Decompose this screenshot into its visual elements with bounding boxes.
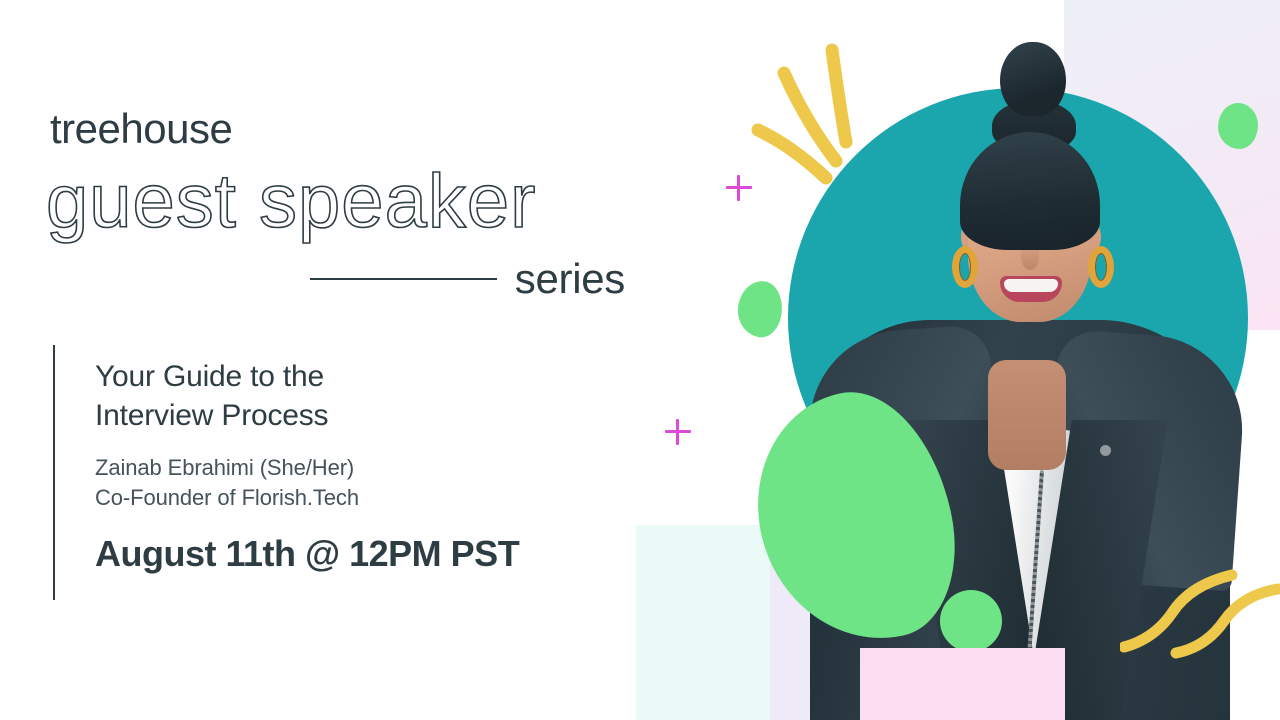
hair — [960, 132, 1100, 250]
yellow-squiggle-icon — [1120, 555, 1280, 665]
series-label: series — [515, 258, 625, 300]
green-blob-shape-top-right — [1218, 103, 1258, 149]
speaker-role: Co-Founder of Florish.Tech — [95, 483, 519, 513]
event-datetime: August 11th @ 12PM PST — [95, 534, 519, 574]
magenta-plus-icon-top — [726, 175, 752, 201]
speaker-name: Zainab Ebrahimi (She/Her) — [95, 453, 519, 483]
series-divider-rule — [310, 278, 497, 280]
event-detail-block: Your Guide to the Interview Process Zain… — [53, 345, 519, 600]
teeth — [1004, 279, 1058, 292]
leopard-hoop-earring-left — [952, 246, 978, 288]
jacket-stud — [1100, 445, 1111, 456]
green-blob-shape-small — [734, 278, 785, 340]
brand-wordmark: treehouse — [50, 108, 232, 150]
smiling-mouth — [1000, 276, 1062, 302]
pink-panel-bottom — [860, 648, 1065, 720]
text-column: treehouse guest speaker series Your Guid… — [0, 0, 680, 720]
leopard-hoop-earring-right — [1088, 246, 1114, 288]
hair-bun — [1000, 42, 1066, 116]
neck — [988, 360, 1066, 470]
talk-title: Your Guide to the Interview Process — [95, 357, 519, 435]
green-circle-shape-edge — [884, 528, 920, 584]
yellow-sparkle-icon — [740, 30, 900, 210]
green-circle-shape-bottom — [940, 590, 1002, 652]
series-row: series — [310, 258, 625, 300]
headline-outline-text: guest speaker — [46, 164, 536, 240]
guest-speaker-poster: treehouse guest speaker series Your Guid… — [0, 0, 1280, 720]
